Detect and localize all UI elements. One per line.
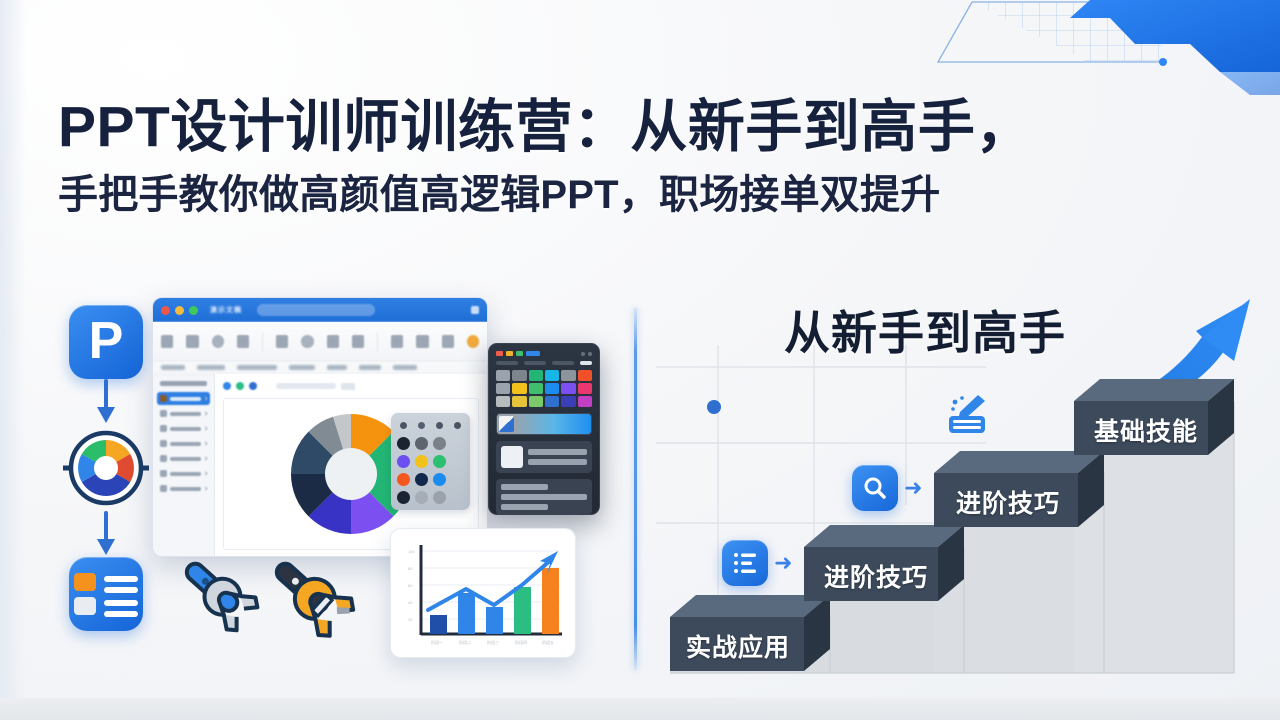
arrow-down-icon-1 [54, 379, 158, 425]
sidebar-item-icon [160, 470, 167, 477]
ribbon-toolbar[interactable] [153, 322, 487, 362]
svg-text:40: 40 [408, 600, 413, 605]
chevron-right-icon [203, 396, 207, 400]
ribbon-icon-7[interactable] [327, 335, 339, 348]
left-panel: P [0, 285, 634, 685]
sidebar-header [160, 381, 207, 386]
icon-column: P [54, 305, 158, 631]
sidebar-item-icon [160, 395, 167, 402]
ribbon-icon-10[interactable] [416, 335, 428, 348]
ribbon-icon-1[interactable] [161, 335, 173, 348]
sidebar-item-4[interactable] [157, 452, 210, 465]
ribbon-icon-11[interactable] [442, 335, 454, 348]
svg-text:阶段五: 阶段五 [542, 639, 554, 645]
picker-preview-swatch [501, 446, 523, 468]
layout-icon-grid [74, 573, 138, 615]
svg-text:60: 60 [408, 583, 413, 588]
corner-decoration [920, 0, 1280, 95]
app-window[interactable]: 演示文稿 [152, 297, 488, 557]
window-titlebar[interactable]: 演示文稿 [153, 298, 487, 322]
sidebar-item-label [170, 442, 201, 446]
sidebar-item-label [170, 412, 201, 416]
connector-arrow-2: ➜ [774, 552, 792, 574]
tab-2[interactable] [197, 365, 225, 370]
steps-diagram: 实战应用 进阶技巧 进阶技巧 基础技能 ➜ ➜ [634, 285, 1280, 685]
picker-gradient-slider[interactable] [496, 413, 592, 435]
sidebar-item-icon [160, 410, 167, 417]
step-label-4: 基础技能 [1094, 412, 1198, 448]
picker-preview-card [496, 441, 592, 473]
canvas-toolbar[interactable] [223, 382, 479, 390]
svg-text:20: 20 [408, 617, 413, 622]
canvas-dot-blue[interactable] [223, 382, 231, 390]
sidebar-item-icon [160, 485, 167, 492]
svg-text:阶段四: 阶段四 [515, 639, 527, 645]
close-icon[interactable] [161, 306, 170, 315]
ribbon-icon-8[interactable] [352, 335, 364, 348]
chevron-right-icon [203, 411, 207, 415]
layout-swatch-orange [74, 573, 96, 591]
ribbon-icon-5[interactable] [276, 335, 288, 348]
poster-canvas: PPT设计训师训练营：从新手到高手， 手把手教你做高颜值高逻辑PPT，职场接单双… [0, 0, 1280, 720]
layout-lines-1 [104, 573, 138, 591]
sidebar-item-label [170, 472, 201, 476]
maximize-icon[interactable] [189, 306, 198, 315]
sidebar-item-3[interactable] [157, 437, 210, 450]
window-title: 演示文稿 [210, 305, 242, 315]
svg-text:100: 100 [408, 549, 415, 554]
tab-3[interactable] [237, 365, 277, 370]
chevron-right-icon [203, 471, 207, 475]
tab-5[interactable] [327, 365, 347, 370]
ribbon-icon-3[interactable] [212, 335, 224, 348]
bar-chart-card: 10080 6040 20 阶段一阶段二 阶段三阶段四 阶段五 [390, 528, 576, 658]
color-wheel-icon[interactable] [63, 425, 149, 511]
canvas-chip[interactable] [341, 383, 355, 390]
layout-lines-2 [104, 597, 138, 615]
picker-titlebar[interactable] [496, 351, 592, 356]
tab-1[interactable] [161, 365, 185, 370]
picker-tabs[interactable] [496, 361, 592, 365]
svg-text:阶段二: 阶段二 [459, 639, 471, 645]
ribbon-divider-1 [262, 332, 263, 352]
tab-6[interactable] [359, 365, 381, 370]
tools-group [168, 553, 378, 649]
ribbon-icon-6[interactable] [301, 335, 313, 348]
titlebar-actions[interactable] [471, 306, 479, 314]
sidebar-item-5[interactable] [157, 467, 210, 480]
sidebar-item-6[interactable] [157, 482, 210, 495]
sidebar-item-icon [160, 455, 167, 462]
sidebar-item-1[interactable] [157, 407, 210, 420]
ribbon-icon-2[interactable] [186, 335, 198, 348]
slide-sidebar[interactable] [153, 374, 215, 557]
ribbon-accent-icon[interactable] [467, 335, 479, 348]
ribbon-icon-4[interactable] [237, 335, 249, 348]
edit-icon[interactable] [944, 392, 990, 438]
page-title: PPT设计训师训练营：从新手到高手， [58, 96, 1238, 160]
list-detail-icon[interactable] [722, 540, 768, 586]
tab-4[interactable] [289, 365, 315, 370]
search-icon[interactable] [852, 465, 898, 511]
chevron-right-icon [203, 441, 207, 445]
right-panel: 从新手到高手 [634, 285, 1280, 685]
sidebar-item-icon [160, 440, 167, 447]
step-label-3: 进阶技巧 [956, 484, 1060, 520]
picker-swatch-grid[interactable] [496, 370, 592, 407]
step-label-2: 进阶技巧 [824, 558, 928, 594]
connector-arrow-3: ➜ [904, 477, 922, 499]
canvas-dot-navy[interactable] [249, 382, 257, 390]
svg-text:80: 80 [408, 566, 413, 571]
sidebar-item-icon [160, 425, 167, 432]
sidebar-item-2[interactable] [157, 422, 210, 435]
ribbon-tabs[interactable] [153, 362, 487, 374]
color-picker-panel[interactable] [488, 343, 600, 515]
mini-color-palette[interactable] [391, 413, 470, 510]
powerpoint-letter: P [89, 315, 124, 367]
picker-slider-thumb[interactable] [499, 416, 514, 432]
tab-7[interactable] [393, 365, 417, 370]
sidebar-item-label [170, 487, 201, 491]
wrench-orange-icon [263, 553, 358, 641]
search-input[interactable] [257, 304, 375, 316]
chevron-right-icon [203, 426, 207, 430]
picker-footer [496, 479, 592, 515]
title-block: PPT设计训师训练营：从新手到高手， 手把手教你做高颜值高逻辑PPT，职场接单双… [58, 96, 1238, 218]
arrow-down-icon-2 [54, 511, 158, 557]
layout-icon[interactable] [69, 557, 143, 631]
step-label-1: 实战应用 [686, 628, 790, 664]
ribbon-icon-9[interactable] [391, 335, 403, 348]
bottom-strip [0, 698, 1280, 720]
canvas-field[interactable] [276, 383, 336, 389]
powerpoint-icon[interactable]: P [69, 305, 143, 379]
wrench-blue-icon [175, 553, 262, 635]
sidebar-item-label [170, 397, 201, 401]
sidebar-item-0[interactable] [157, 392, 210, 405]
page-subtitle: 手把手教你做高颜值高逻辑PPT，职场接单双提升 [58, 172, 1238, 218]
ribbon-divider-2 [377, 332, 378, 352]
canvas-dot-green[interactable] [236, 382, 244, 390]
minimize-icon[interactable] [175, 306, 184, 315]
svg-text:阶段三: 阶段三 [487, 639, 499, 645]
chevron-right-icon [203, 486, 207, 490]
sidebar-item-label [170, 427, 201, 431]
sidebar-item-label [170, 457, 201, 461]
layout-swatch-gray [74, 597, 96, 615]
chevron-right-icon [203, 456, 207, 460]
svg-text:阶段一: 阶段一 [431, 639, 443, 645]
bar-chart: 10080 6040 20 阶段一阶段二 阶段三阶段四 阶段五 [400, 537, 568, 651]
